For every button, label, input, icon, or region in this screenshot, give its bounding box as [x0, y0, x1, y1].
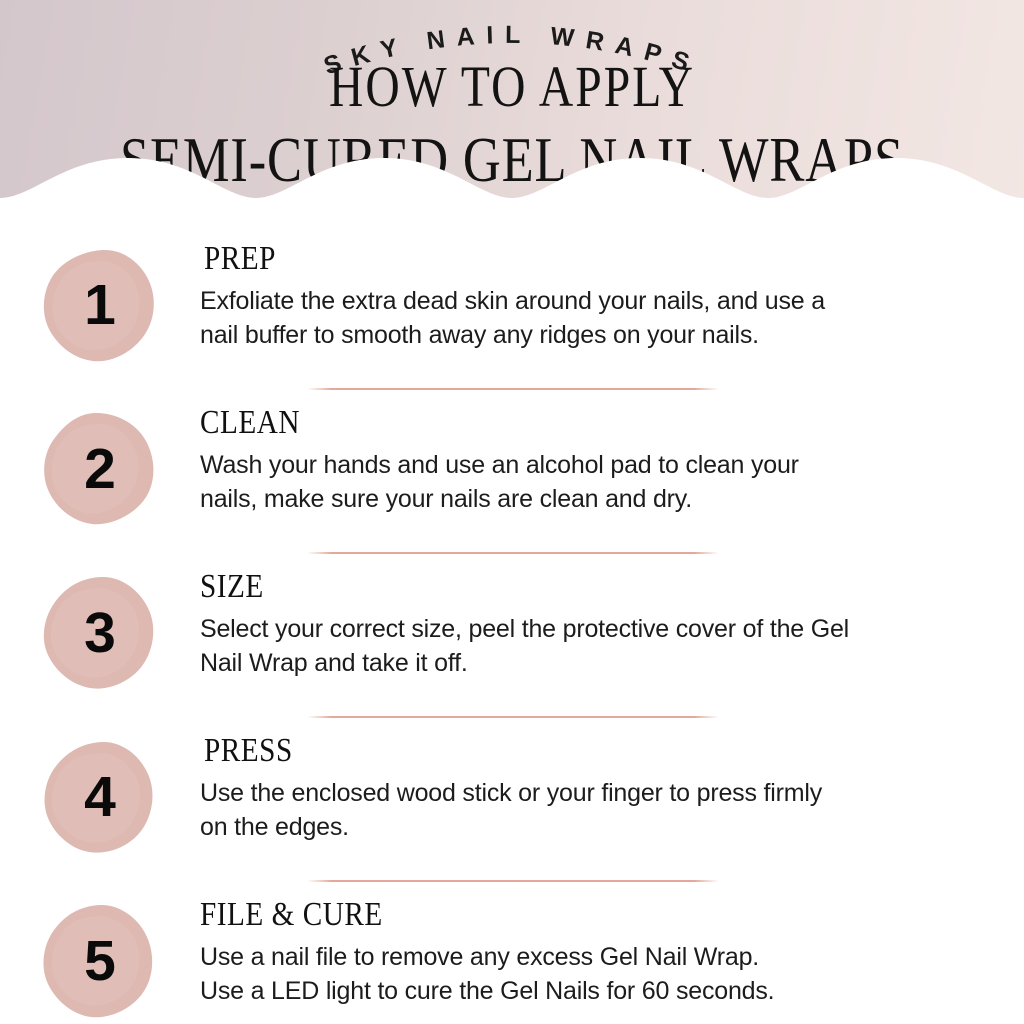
step-divider-2	[0, 552, 1024, 554]
step-description-1: Exfoliate the extra dead skin around you…	[200, 284, 964, 353]
step-divider-4	[0, 880, 1024, 882]
divider-spacer	[0, 388, 307, 390]
step-item-5: 5 FILE & CURE Use a nail file to remove …	[0, 896, 1024, 1024]
step-number-5: 5	[84, 933, 116, 990]
step-badge-wrap-3: 3	[0, 568, 200, 700]
step-number-1: 1	[84, 277, 116, 334]
step-badge-wrap-5: 5	[0, 896, 200, 1024]
step-title-4: PRESS	[204, 734, 858, 768]
spacer	[0, 700, 1024, 716]
step-title-3: SIZE	[200, 570, 857, 604]
step-badge-3: 3	[41, 575, 159, 693]
step-divider-3	[0, 716, 1024, 718]
step-description-2: Wash your hands and use an alcohol pad t…	[200, 448, 964, 517]
divider-line	[307, 388, 719, 390]
divider-line	[307, 552, 719, 554]
spacer	[0, 864, 1024, 880]
header-banner: SKY NAIL WRAPS HOW TO APPLY SEMI-CURED G…	[0, 0, 1024, 232]
step-badge-2: 2	[41, 411, 159, 529]
divider-spacer	[0, 716, 307, 718]
step-item-4: 4 PRESS Use the enclosed wood stick or y…	[0, 732, 1024, 864]
spacer	[0, 536, 1024, 552]
header-wave-divider	[0, 142, 1024, 232]
step-badge-1: 1	[41, 247, 159, 365]
step-badge-wrap-1: 1	[0, 240, 200, 372]
steps-list: 1 PREP Exfoliate the extra dead skin aro…	[0, 232, 1024, 1024]
step-item-1: 1 PREP Exfoliate the extra dead skin aro…	[0, 240, 1024, 372]
step-description-3: Select your correct size, peel the prote…	[200, 612, 964, 681]
step-title-5: FILE & CURE	[200, 898, 857, 932]
step-body-2: CLEAN Wash your hands and use an alcohol…	[200, 404, 1024, 517]
step-body-4: PRESS Use the enclosed wood stick or you…	[200, 732, 1024, 845]
step-item-3: 3 SIZE Select your correct size, peel th…	[0, 568, 1024, 700]
divider-line	[307, 880, 719, 882]
spacer	[0, 372, 1024, 388]
divider-spacer	[0, 552, 307, 554]
step-description-4: Use the enclosed wood stick or your fing…	[200, 776, 964, 845]
step-body-5: FILE & CURE Use a nail file to remove an…	[200, 896, 1024, 1009]
poster-canvas: SKY NAIL WRAPS HOW TO APPLY SEMI-CURED G…	[0, 0, 1024, 1024]
step-description-5: Use a nail file to remove any excess Gel…	[200, 940, 964, 1009]
step-number-4: 4	[84, 769, 116, 826]
step-badge-wrap-4: 4	[0, 732, 200, 864]
step-badge-wrap-2: 2	[0, 404, 200, 536]
step-divider-1	[0, 388, 1024, 390]
step-body-3: SIZE Select your correct size, peel the …	[200, 568, 1024, 681]
title-line-1: HOW TO APPLY	[92, 58, 932, 116]
step-item-2: 2 CLEAN Wash your hands and use an alcoh…	[0, 404, 1024, 536]
divider-spacer	[0, 880, 307, 882]
step-body-1: PREP Exfoliate the extra dead skin aroun…	[200, 240, 1024, 353]
step-title-1: PREP	[204, 242, 858, 276]
step-badge-5: 5	[41, 903, 159, 1021]
step-title-2: CLEAN	[200, 406, 857, 440]
step-number-3: 3	[84, 605, 116, 662]
divider-line	[307, 716, 719, 718]
step-number-2: 2	[84, 441, 116, 498]
step-badge-4: 4	[41, 739, 159, 857]
